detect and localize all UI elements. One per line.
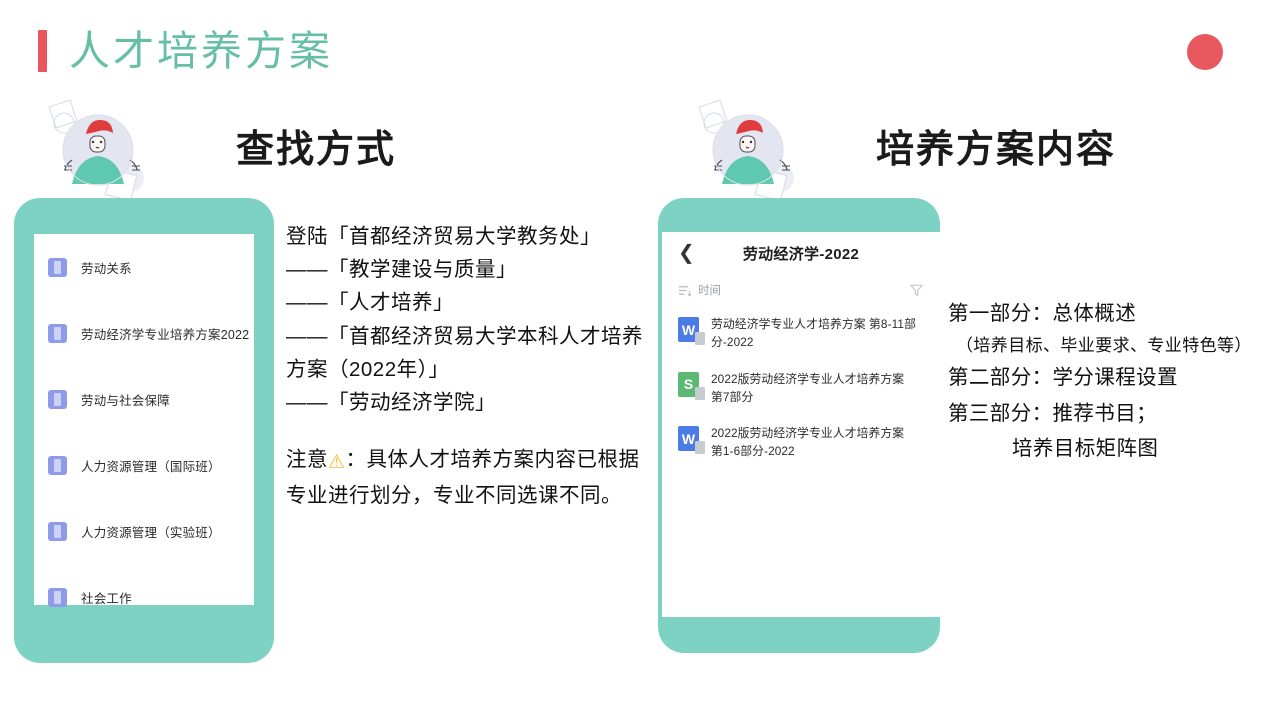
page-title-bar: 人才培养方案: [38, 30, 333, 72]
sheet-file-icon: S: [678, 372, 699, 397]
instruction-line-2: ——「教学建设与质量」: [286, 253, 652, 286]
app-title: 劳动经济学-2022: [662, 243, 940, 264]
spacer: [286, 419, 652, 443]
right-outline-text: 第一部分：总体概述 （培养目标、毕业要求、专业特色等） 第二部分：学分课程设置 …: [948, 296, 1268, 466]
outline-part-2: 第二部分：学分课程设置: [948, 360, 1268, 395]
folder-label: 劳动经济学专业培养方案2022: [81, 324, 249, 343]
instruction-line-5: ——「劳动经济学院」: [286, 386, 652, 419]
outline-part-1: 第一部分：总体概述: [948, 296, 1268, 331]
title-accent-bar: [38, 30, 47, 72]
list-item[interactable]: 人力资源管理（国际班）: [34, 432, 254, 498]
sort-label: 时间: [698, 282, 721, 298]
outline-part-1-sub: （培养目标、毕业要求、专业特色等）: [948, 331, 1268, 360]
list-item[interactable]: 人力资源管理（实验班）: [34, 498, 254, 564]
chevron-left-icon[interactable]: ❮: [678, 243, 698, 263]
person-illustration-icon: [42, 98, 162, 208]
list-item[interactable]: 劳动与社会保障: [34, 366, 254, 432]
folder-icon: [48, 522, 67, 541]
person-illustration-icon: [692, 98, 812, 208]
folder-icon: [48, 324, 67, 343]
phone-mockup-left: 劳动关系 劳动经济学专业培养方案2022 劳动与社会保障 人力资源管理（国际班）…: [14, 198, 274, 663]
file-name: 2022版劳动经济学专业人才培养方案 第7部分: [711, 370, 917, 407]
word-file-icon: W: [678, 317, 699, 342]
outline-part-3-sub: 培养目标矩阵图: [948, 431, 1268, 466]
folder-label: 社会工作: [81, 588, 132, 607]
list-item[interactable]: W 2022版劳动经济学专业人才培养方案 第1-6部分-2022: [662, 415, 940, 470]
section-heading-right: 培养方案内容: [876, 118, 1116, 173]
sort-filter-bar: 时间: [662, 274, 940, 306]
red-dot-decoration: [1187, 34, 1223, 70]
file-name: 劳动经济学专业人才培养方案 第8-11部分-2022: [711, 315, 917, 352]
folder-label: 劳动与社会保障: [81, 390, 170, 409]
folder-label: 人力资源管理（国际班）: [81, 456, 221, 475]
app-bar: ❮ 劳动经济学-2022: [662, 232, 940, 274]
sort-icon: [678, 284, 691, 297]
folder-label: 人力资源管理（实验班）: [81, 522, 221, 541]
word-file-icon: W: [678, 426, 699, 451]
folder-icon: [48, 588, 67, 607]
left-instructions-text: 登陆「首都经济贸易大学教务处」 ——「教学建设与质量」 ——「人才培养」 ——「…: [286, 220, 652, 512]
section-heading-left: 查找方式: [236, 118, 396, 173]
phone-screen-left: 劳动关系 劳动经济学专业培养方案2022 劳动与社会保障 人力资源管理（国际班）…: [34, 234, 254, 605]
folder-icon: [48, 258, 67, 277]
warning-triangle-icon: ⚠: [328, 448, 346, 479]
folder-icon: [48, 390, 67, 409]
instruction-line-1: 登陆「首都经济贸易大学教务处」: [286, 220, 652, 253]
list-item[interactable]: 劳动经济学专业培养方案2022: [34, 300, 254, 366]
phone-mockup-right: ❮ 劳动经济学-2022 时间 W 劳动经济学专业人才培养方案 第8-11部分-…: [658, 198, 940, 653]
instruction-line-3: ——「人才培养」: [286, 286, 652, 319]
phone-screen-right: ❮ 劳动经济学-2022 时间 W 劳动经济学专业人才培养方案 第8-11部分-…: [662, 232, 940, 617]
file-name: 2022版劳动经济学专业人才培养方案 第1-6部分-2022: [711, 424, 917, 461]
outline-part-3: 第三部分：推荐书目；: [948, 396, 1268, 431]
list-item[interactable]: W 劳动经济学专业人才培养方案 第8-11部分-2022: [662, 306, 940, 361]
note-paragraph: 注意⚠：具体人才培养方案内容已根据专业进行划分，专业不同选课不同。: [286, 443, 652, 512]
instruction-line-4: ——「首都经济贸易大学本科人才培养方案（2022年）」: [286, 320, 652, 386]
sort-control[interactable]: 时间: [678, 282, 721, 298]
list-item[interactable]: S 2022版劳动经济学专业人才培养方案 第7部分: [662, 361, 940, 416]
folder-icon: [48, 456, 67, 475]
note-prefix: 注意: [286, 448, 328, 471]
filter-funnel-icon[interactable]: [909, 283, 924, 298]
list-item[interactable]: 劳动关系: [34, 234, 254, 300]
folder-label: 劳动关系: [81, 258, 132, 277]
list-item[interactable]: 社会工作: [34, 564, 254, 630]
page-title: 人才培养方案: [69, 31, 333, 72]
